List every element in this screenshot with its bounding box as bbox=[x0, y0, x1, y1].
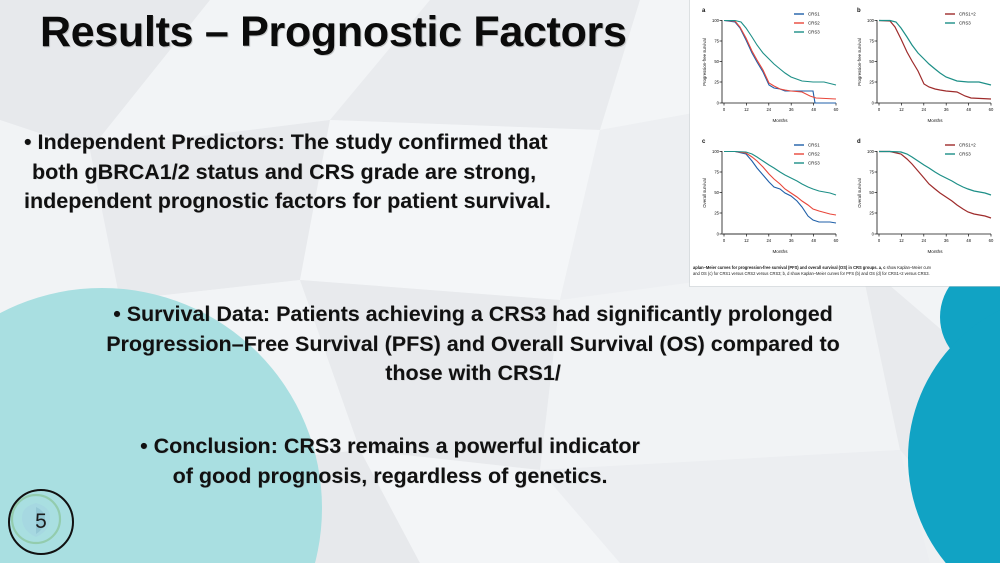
svg-text:75: 75 bbox=[714, 39, 719, 44]
x-axis-label: Months bbox=[772, 118, 788, 123]
bullet-line: • Conclusion: CRS3 remains a powerful in… bbox=[40, 432, 740, 462]
svg-text:0: 0 bbox=[878, 107, 881, 112]
chart-panel-d: d 10075 5025 0 bbox=[845, 131, 1000, 262]
svg-text:100: 100 bbox=[712, 18, 720, 23]
svg-text:50: 50 bbox=[714, 190, 719, 195]
svg-text:0: 0 bbox=[872, 101, 875, 106]
svg-text:60: 60 bbox=[834, 107, 839, 112]
svg-text:24: 24 bbox=[921, 238, 926, 243]
svg-text:36: 36 bbox=[789, 107, 794, 112]
y-axis-label: Overall survival bbox=[857, 178, 862, 207]
svg-text:CRS3: CRS3 bbox=[959, 21, 971, 26]
page-title: Results – Prognostic Factors bbox=[40, 8, 627, 57]
bullet-line: • Survival Data: Patients achieving a CR… bbox=[8, 300, 938, 330]
svg-text:48: 48 bbox=[811, 107, 816, 112]
svg-text:12: 12 bbox=[744, 107, 749, 112]
x-axis-label: Months bbox=[927, 249, 943, 254]
svg-text:CRS2: CRS2 bbox=[808, 152, 820, 157]
y-axis-label: Overall survival bbox=[702, 178, 707, 207]
bullet-line: those with CRS1/ bbox=[8, 359, 938, 389]
svg-text:12: 12 bbox=[899, 107, 904, 112]
bullet-line: • Independent Predictors: The study conf… bbox=[24, 128, 674, 158]
x-axis-label: Months bbox=[927, 118, 943, 123]
panel-label-d: d bbox=[857, 139, 861, 145]
svg-text:CRS1+2: CRS1+2 bbox=[959, 12, 976, 17]
bullet-conclusion: • Conclusion: CRS3 remains a powerful in… bbox=[40, 432, 740, 491]
svg-text:25: 25 bbox=[869, 211, 874, 216]
y-axis-label: Progression-free survival bbox=[857, 38, 862, 86]
svg-text:36: 36 bbox=[944, 107, 949, 112]
slide-number-badge: 5 bbox=[8, 489, 74, 555]
svg-text:100: 100 bbox=[867, 149, 875, 154]
svg-text:60: 60 bbox=[989, 107, 994, 112]
svg-text:CRS3: CRS3 bbox=[959, 152, 971, 157]
svg-text:12: 12 bbox=[899, 238, 904, 243]
chart-panel-b: b 10075 5025 0 bbox=[845, 0, 1000, 131]
svg-text:75: 75 bbox=[714, 170, 719, 175]
svg-text:24: 24 bbox=[766, 238, 771, 243]
svg-text:CRS2: CRS2 bbox=[808, 21, 820, 26]
svg-text:0: 0 bbox=[723, 107, 726, 112]
svg-text:36: 36 bbox=[789, 238, 794, 243]
svg-text:60: 60 bbox=[989, 238, 994, 243]
svg-text:0: 0 bbox=[878, 238, 881, 243]
chart-panel-c: c 10075 5025 0 bbox=[690, 131, 845, 262]
svg-text:0: 0 bbox=[723, 238, 726, 243]
chart-legend-c: CRS1 CRS2 CRS3 bbox=[794, 143, 820, 166]
svg-text:25: 25 bbox=[714, 211, 719, 216]
svg-text:CRS1: CRS1 bbox=[808, 12, 820, 17]
svg-text:12: 12 bbox=[744, 238, 749, 243]
figure-caption-line2: and OS (c) for CRS1 versus CRS2 versus C… bbox=[693, 271, 930, 276]
svg-text:100: 100 bbox=[867, 18, 875, 23]
svg-text:50: 50 bbox=[869, 190, 874, 195]
chart-legend-a: CRS1 CRS2 CRS3 bbox=[794, 12, 820, 35]
bullet-line: Progression–Free Survival (PFS) and Over… bbox=[8, 330, 938, 360]
panel-label-c: c bbox=[702, 139, 706, 145]
svg-text:CRS3: CRS3 bbox=[808, 161, 820, 166]
figure-caption: aplan–Meier curves for progression-free … bbox=[693, 265, 998, 277]
panel-label-a: a bbox=[702, 8, 706, 14]
svg-text:24: 24 bbox=[921, 107, 926, 112]
chart-panel-a: a 10075 5025 0 bbox=[690, 0, 845, 131]
svg-text:25: 25 bbox=[714, 80, 719, 85]
panel-label-b: b bbox=[857, 8, 861, 14]
bullet-independent-predictors: • Independent Predictors: The study conf… bbox=[24, 128, 674, 217]
chart-legend-b: CRS1+2 CRS3 bbox=[945, 12, 976, 26]
svg-text:100: 100 bbox=[712, 149, 720, 154]
y-axis-label: Progression-free survival bbox=[702, 38, 707, 86]
svg-text:0: 0 bbox=[717, 232, 720, 237]
svg-text:0: 0 bbox=[872, 232, 875, 237]
svg-text:CRS1: CRS1 bbox=[808, 143, 820, 148]
figure-kaplan-meier: a 10075 5025 0 bbox=[690, 0, 1000, 286]
svg-text:25: 25 bbox=[869, 80, 874, 85]
svg-text:24: 24 bbox=[766, 107, 771, 112]
svg-text:60: 60 bbox=[834, 238, 839, 243]
bullet-survival-data: • Survival Data: Patients achieving a CR… bbox=[8, 300, 938, 389]
svg-text:48: 48 bbox=[811, 238, 816, 243]
chart-legend-d: CRS1+2 CRS3 bbox=[945, 143, 976, 157]
bullet-line: independent prognostic factors for patie… bbox=[24, 187, 674, 217]
figure-caption-bold: aplan–Meier curves for progression-free … bbox=[693, 265, 886, 270]
figure-panel-grid: a 10075 5025 0 bbox=[690, 0, 1000, 262]
svg-text:50: 50 bbox=[869, 59, 874, 64]
bullet-line: of good prognosis, regardless of genetic… bbox=[40, 462, 740, 492]
svg-text:CRS3: CRS3 bbox=[808, 30, 820, 35]
slide-canvas: Results – Prognostic Factors • Independe… bbox=[0, 0, 1000, 563]
svg-text:36: 36 bbox=[944, 238, 949, 243]
figure-caption-rest: show Kaplan–Meier curv bbox=[886, 265, 932, 270]
svg-text:50: 50 bbox=[714, 59, 719, 64]
x-axis-label: Months bbox=[772, 249, 788, 254]
svg-text:0: 0 bbox=[717, 101, 720, 106]
bullet-line: both gBRCA1/2 status and CRS grade are s… bbox=[24, 158, 674, 188]
svg-text:48: 48 bbox=[966, 238, 971, 243]
svg-text:CRS1+2: CRS1+2 bbox=[959, 143, 976, 148]
svg-text:75: 75 bbox=[869, 39, 874, 44]
svg-text:48: 48 bbox=[966, 107, 971, 112]
svg-text:75: 75 bbox=[869, 170, 874, 175]
